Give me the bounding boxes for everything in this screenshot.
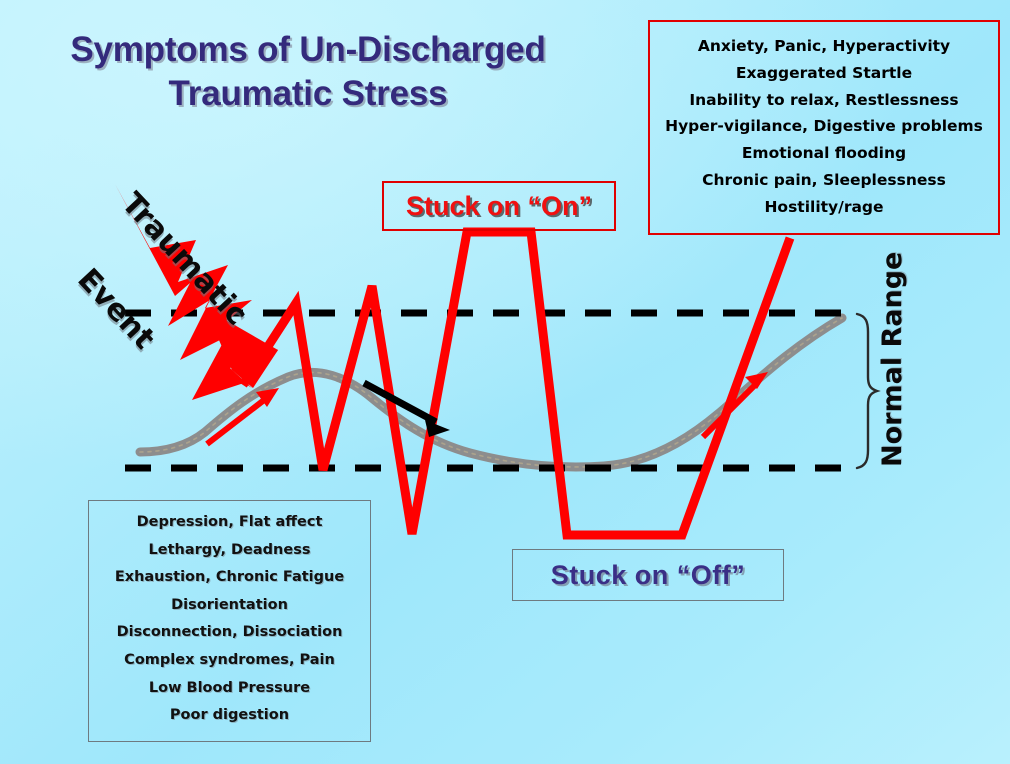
- dysregulation-zigzag-line: [243, 232, 790, 535]
- stuck-off-label: Stuck on “Off”: [551, 560, 746, 591]
- stuck-off-callout: Stuck on “Off”: [512, 549, 784, 601]
- slide-canvas: Symptoms of Un-Discharged Traumatic Stre…: [0, 0, 1010, 764]
- hypoarousal-symptom-line: Low Blood Pressure: [89, 675, 370, 703]
- hyperarousal-symptoms-panel: Anxiety, Panic, Hyperactivity Exaggerate…: [648, 20, 1000, 235]
- hyperarousal-symptom-line: Hyper-vigilance, Digestive problems: [650, 113, 998, 140]
- hyperarousal-symptom-line: Inability to relax, Restlessness: [650, 87, 998, 114]
- hyperarousal-symptom-line: Chronic pain, Sleeplessness: [650, 167, 998, 194]
- hypoarousal-symptoms-panel: Depression, Flat affect Lethargy, Deadne…: [88, 500, 371, 742]
- normal-range-brace: [857, 314, 877, 468]
- hypoarousal-symptom-line: Depression, Flat affect: [89, 509, 370, 537]
- hyperarousal-symptom-line: Exaggerated Startle: [650, 60, 998, 87]
- stuck-on-callout: Stuck on “On”: [382, 181, 616, 231]
- hypoarousal-symptom-line: Lethargy, Deadness: [89, 537, 370, 565]
- hypoarousal-symptom-line: Complex syndromes, Pain: [89, 647, 370, 675]
- hyperarousal-symptom-line: Anxiety, Panic, Hyperactivity: [650, 33, 998, 60]
- normal-range-label: Normal Range: [877, 252, 908, 467]
- hyperarousal-symptom-line: Hostility/rage: [650, 194, 998, 221]
- stuck-on-label: Stuck on “On”: [406, 191, 592, 222]
- hypoarousal-symptom-line: Disorientation: [89, 592, 370, 620]
- hypoarousal-symptom-line: Disconnection, Dissociation: [89, 619, 370, 647]
- hypoarousal-symptom-line: Exhaustion, Chronic Fatigue: [89, 564, 370, 592]
- hypoarousal-symptom-line: Poor digestion: [89, 702, 370, 730]
- hyperarousal-symptom-line: Emotional flooding: [650, 140, 998, 167]
